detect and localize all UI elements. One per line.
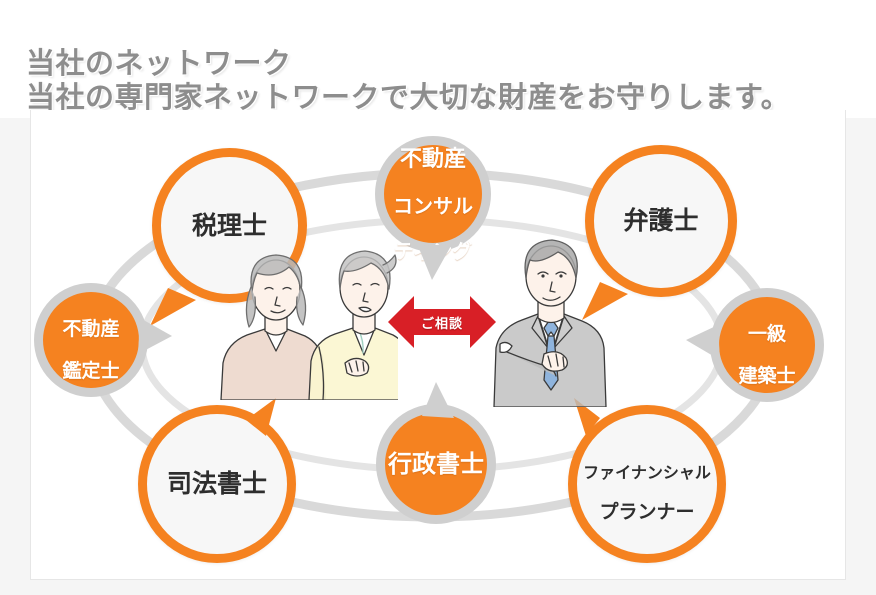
consultation-badge-label: ご相談 (388, 291, 496, 353)
advisor-man-illustration (488, 232, 613, 407)
page-root: 当社のネットワーク 当社の専門家ネットワークで大切な財産をお守りします。 税理士… (0, 0, 876, 595)
clients-two-women-illustration (213, 235, 398, 400)
consultation-badge[interactable]: ご相談 (388, 291, 496, 353)
